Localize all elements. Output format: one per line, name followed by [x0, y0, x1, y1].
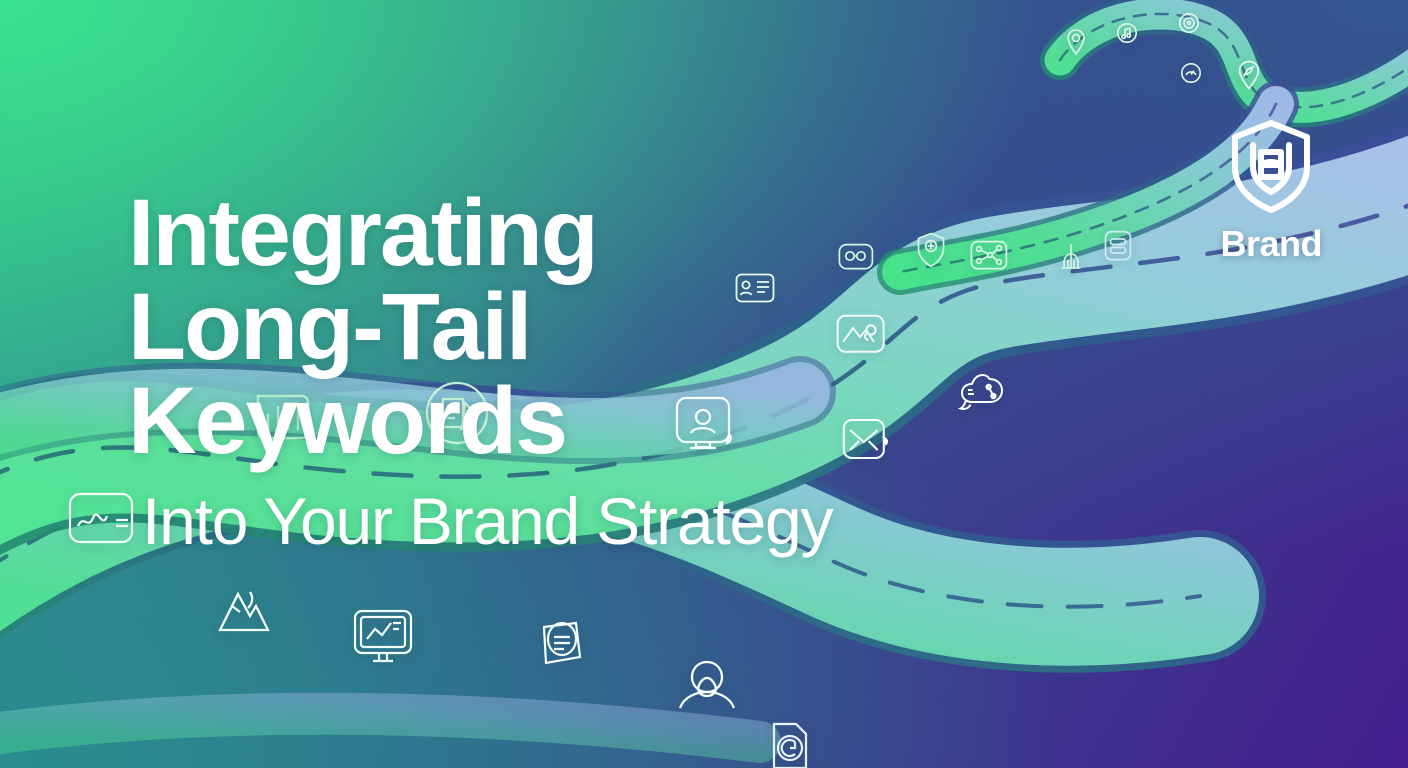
page-title: Integrating Long-Tail Keywords	[128, 186, 988, 468]
title-block: Integrating Long-Tail Keywords Into Your…	[128, 186, 988, 554]
fountain-icon[interactable]	[1055, 240, 1087, 272]
poster-canvas: Integrating Long-Tail Keywords Into Your…	[0, 0, 1408, 768]
brand-name: Brand	[1220, 223, 1322, 265]
location-pin-icon[interactable]	[1064, 28, 1088, 56]
headline-line-3: Keywords	[128, 374, 988, 468]
user-avatar-icon[interactable]	[676, 658, 738, 720]
gauge-icon[interactable]	[1180, 62, 1202, 84]
brand-lockup[interactable]: Brand	[1220, 118, 1322, 265]
target-icon[interactable]	[1178, 12, 1200, 34]
card-stack-icon[interactable]	[1104, 230, 1132, 262]
copyright-badge-icon[interactable]	[760, 718, 820, 768]
headline-line-2: Long-Tail	[128, 280, 988, 374]
mountain-peaks-icon[interactable]	[214, 578, 278, 642]
compass-icon[interactable]	[1236, 60, 1262, 90]
music-note-icon[interactable]	[1116, 22, 1138, 44]
headline-line-1: Integrating	[128, 186, 988, 280]
shield-icon	[1227, 118, 1315, 219]
subheadline: Into Your Brand Strategy	[142, 488, 988, 554]
presentation-chart-icon[interactable]	[353, 609, 417, 665]
document-lines-icon[interactable]	[532, 613, 592, 673]
